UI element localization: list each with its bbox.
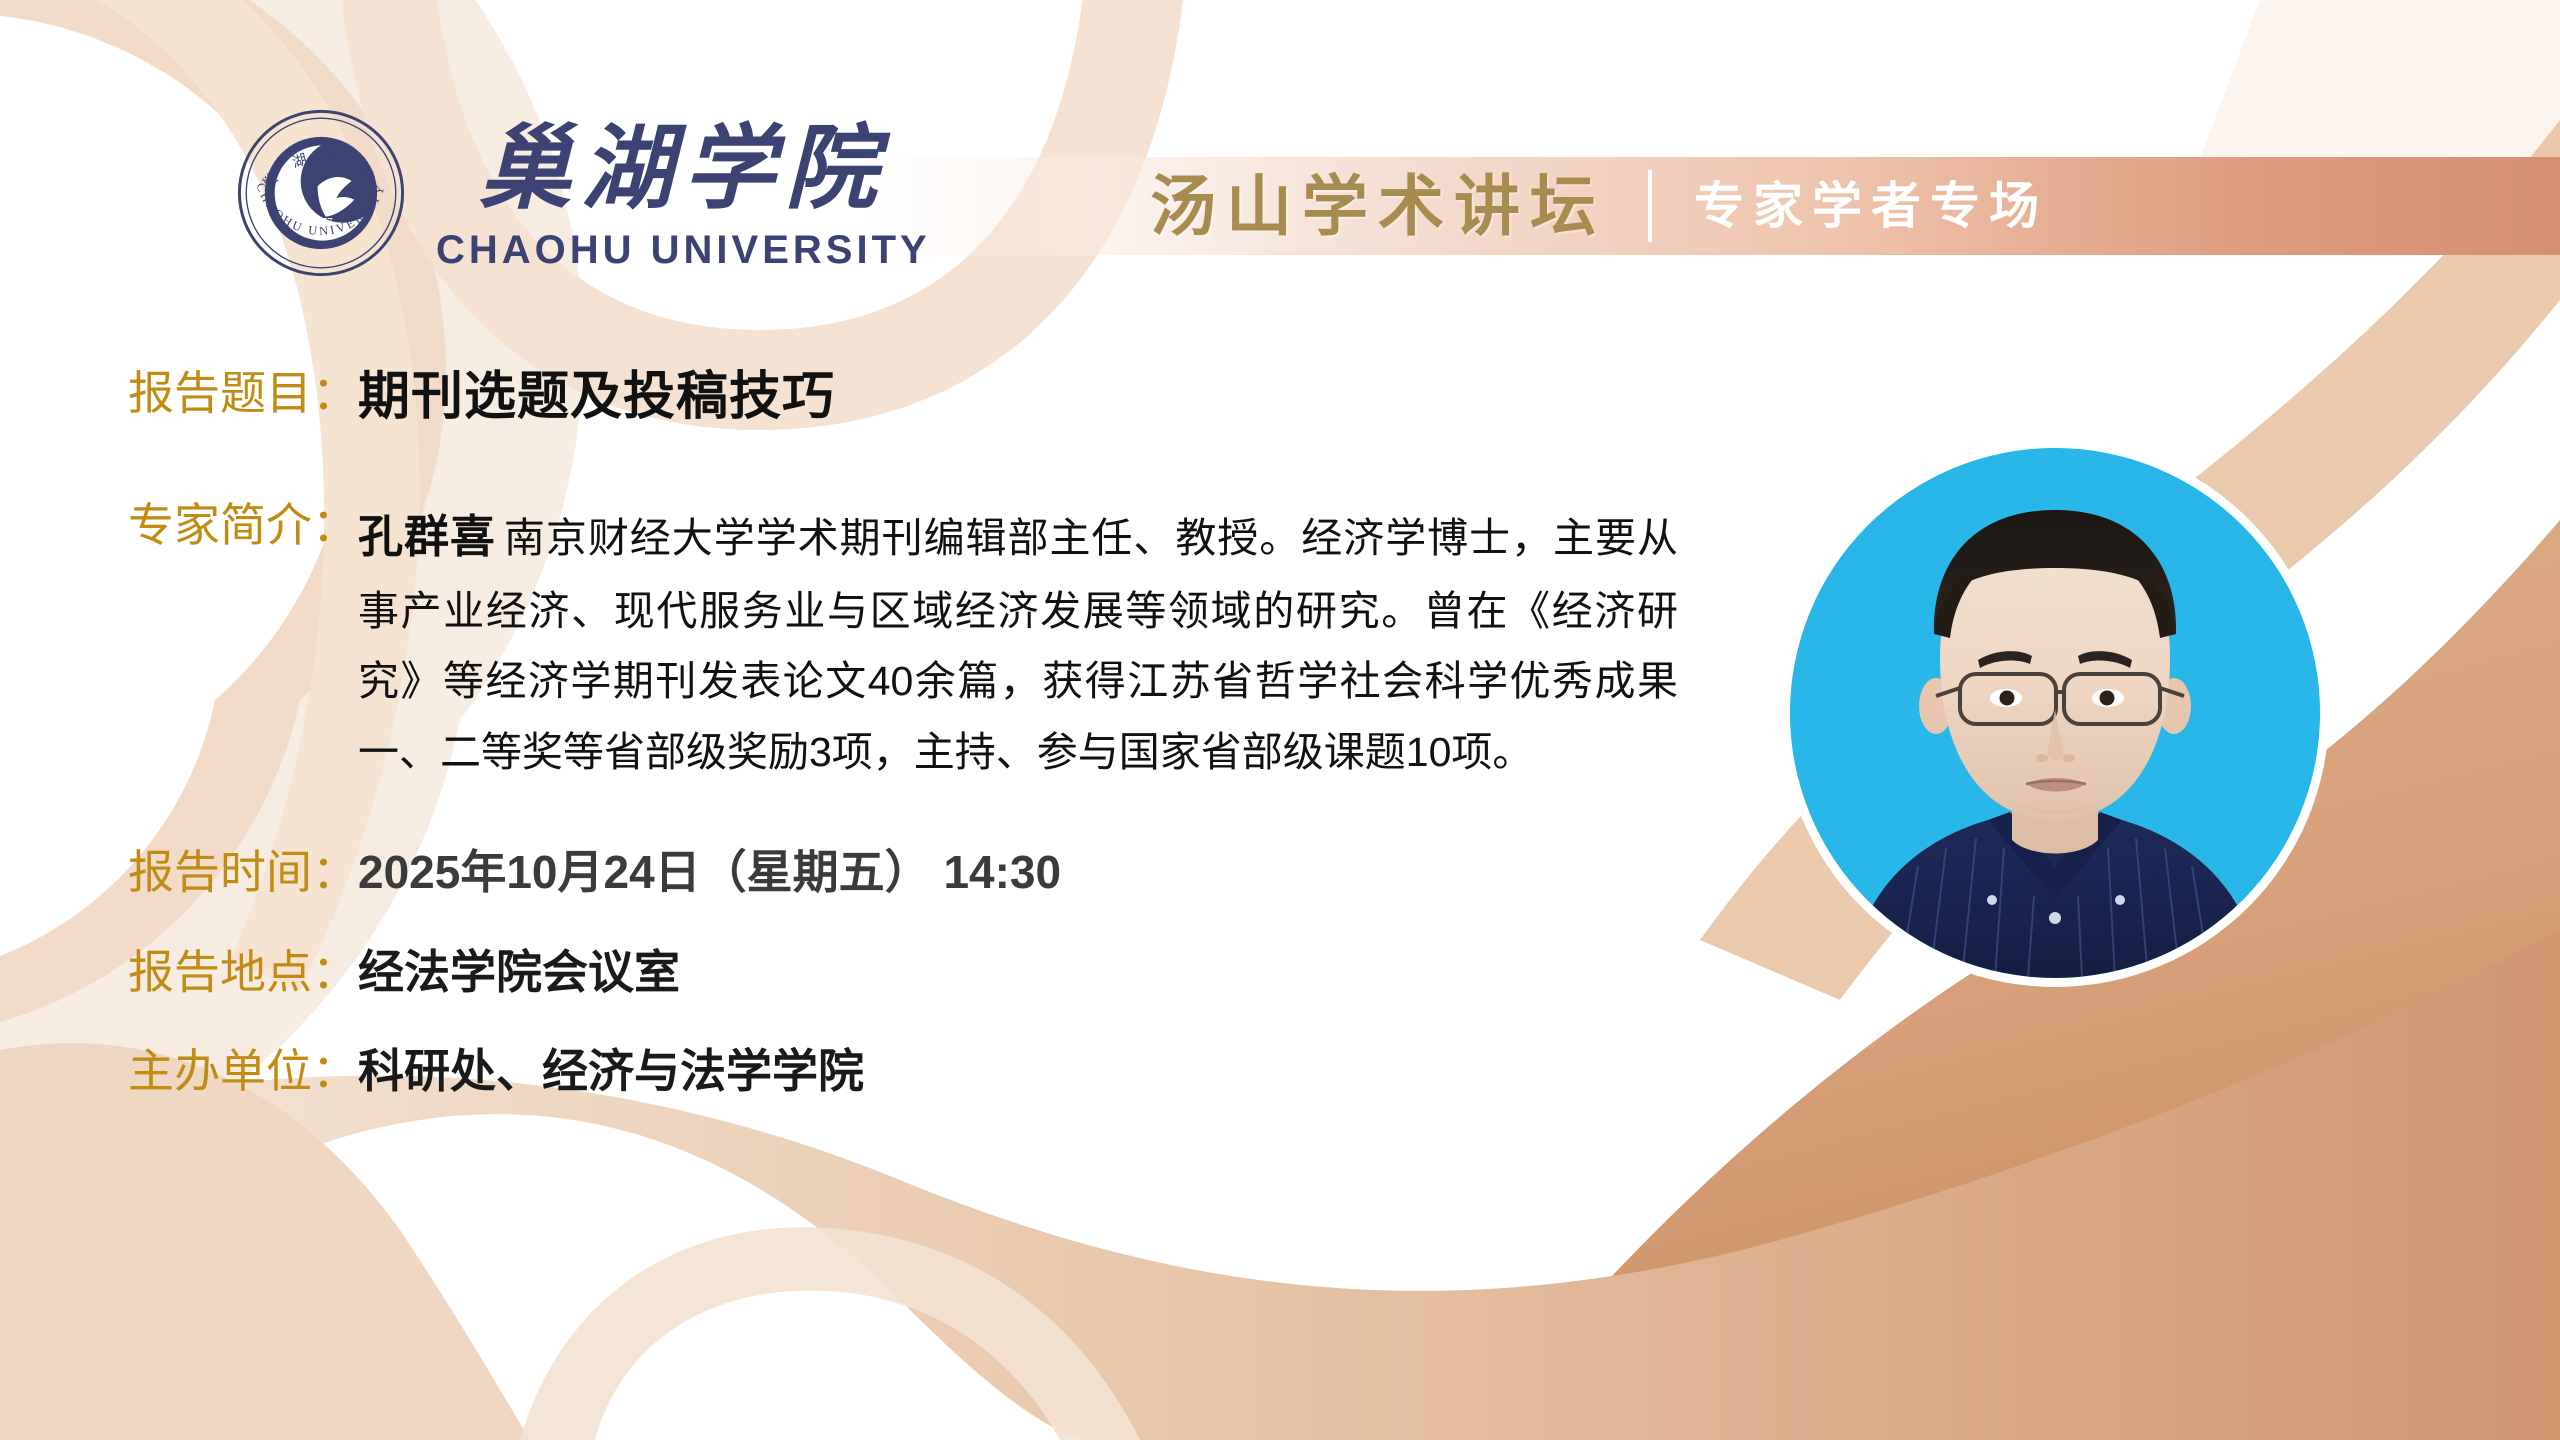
banner-divider xyxy=(1648,170,1652,242)
university-name-cn: 巢湖学院 xyxy=(458,116,908,228)
report-title-label: 报告题目： xyxy=(128,366,358,421)
banner-text-group: 汤山学术讲坛 专家学者专场 xyxy=(1150,157,2048,255)
decor-arc-accent-bottom xyxy=(520,1227,1140,1440)
university-logo: 1977 巢 湖 学 院 CHAOHU UNIVERSITY 巢湖学院 CHAO… xyxy=(236,108,931,278)
host-unit-label: 主办单位： xyxy=(128,1044,358,1099)
report-title-row: 报告题目： 期刊选题及投稿技巧 xyxy=(0,366,2560,428)
university-wordmark: 巢湖学院 CHAOHU UNIVERSITY xyxy=(436,116,931,270)
university-name-cn-text: 巢湖学院 xyxy=(479,118,891,220)
university-seal-icon: 1977 巢 湖 学 院 CHAOHU UNIVERSITY xyxy=(236,108,406,278)
expert-bio-body: 孔群喜南京财经大学学术期刊编辑部主任、教授。经济学博士，主要从事产业经济、现代服… xyxy=(358,498,1678,787)
banner-subtitle: 专家学者专场 xyxy=(1694,181,2048,231)
decor-crescent-bottom xyxy=(60,1114,1080,1440)
report-title-value: 期刊选题及投稿技巧 xyxy=(358,366,835,428)
poster-header: 1977 巢 湖 学 院 CHAOHU UNIVERSITY 巢湖学院 CHAO… xyxy=(0,0,2560,320)
university-name-en: CHAOHU UNIVERSITY xyxy=(436,230,931,270)
report-place-label: 报告地点： xyxy=(128,945,358,1000)
host-unit-value: 科研处、经济与法学学院 xyxy=(358,1044,864,1099)
speaker-portrait xyxy=(1790,448,2320,978)
speaker-portrait-image xyxy=(1790,448,2320,978)
decor-lobe-bottom-left xyxy=(0,1043,530,1440)
banner-title: 汤山学术讲坛 xyxy=(1150,173,1606,239)
report-place-row: 报告地点： 经法学院会议室 xyxy=(0,945,2560,1000)
expert-bio-text: 南京财经大学学术期刊编辑部主任、教授。经济学博士，主要从事产业经济、现代服务业与… xyxy=(358,515,1678,774)
lecture-poster: 1977 巢 湖 学 院 CHAOHU UNIVERSITY 巢湖学院 CHAO… xyxy=(0,0,2560,1440)
expert-bio-label: 专家简介： xyxy=(128,498,358,553)
report-place-value: 经法学院会议室 xyxy=(358,945,680,1000)
report-time-label: 报告时间： xyxy=(128,845,358,900)
expert-name: 孔群喜 xyxy=(358,511,496,562)
host-unit-row: 主办单位： 科研处、经济与法学学院 xyxy=(0,1044,2560,1099)
report-time-value: 2025年10月24日（星期五） 14:30 xyxy=(358,845,1061,900)
